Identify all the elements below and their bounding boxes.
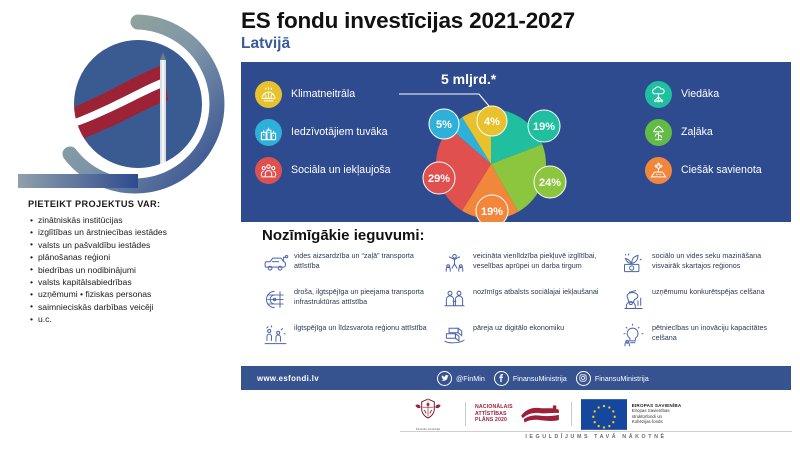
benefit-text: droša, ilgtspējīga un pieejama transport…	[294, 286, 432, 306]
benefit-item: pētniecības un inovāciju kapacitātes cel…	[620, 322, 790, 349]
people-group-icon	[255, 157, 282, 184]
latvia-map-icon	[518, 402, 562, 426]
nap-logo: NACIONĀLAIS ATTĪSTĪBAS PLĀNS 2020	[475, 402, 562, 426]
latvia-flag-circle-icon	[18, 8, 238, 196]
region-development-icon	[262, 322, 289, 349]
pie-label-24: 24%	[534, 166, 566, 198]
priority-label: Zaļāka	[681, 126, 713, 138]
svg-text:24%: 24%	[539, 177, 561, 189]
list-item: saimnieciskās darbības veicēji	[30, 301, 236, 313]
benefit-text: sociālo un vides seku mazināšana visvair…	[652, 250, 790, 270]
list-item: uzņēmumi • fiziskas personas	[30, 288, 236, 300]
pie-label-19b: 19%	[476, 195, 508, 222]
social-link-instagram[interactable]: FinansuMinistrija	[576, 371, 649, 386]
priority-item-ciesak-savienota: Ciešāk savienota	[645, 156, 762, 184]
page-title: ES fondu investīcijas 2021-2027	[241, 8, 575, 34]
social-links: @FinMin FinansuMinistrija	[437, 371, 649, 386]
social-link-twitter[interactable]: @FinMin	[437, 371, 485, 386]
pie-label-4: 4%	[477, 106, 507, 136]
header: ES fondu investīcijas 2021-2027 Latvijā	[241, 8, 575, 53]
benefits-column-2: veicināta vienlīdzība piekļuvē izglītība…	[441, 250, 611, 358]
globe-grid-icon	[255, 81, 282, 108]
divider	[571, 402, 572, 426]
benefit-item: uzņēmumu konkurētspējas celšana	[620, 286, 790, 313]
svg-text:4%: 4%	[484, 116, 500, 128]
nap-line-3: PLĀNS 2020	[475, 417, 513, 424]
page-subtitle: Latvijā	[241, 34, 575, 53]
social-handle: @FinMin	[456, 374, 485, 383]
pie-label-19a: 19%	[528, 110, 560, 142]
electric-car-icon	[262, 250, 289, 277]
city-buildings-icon	[255, 119, 282, 146]
benefit-text: veicināta vienlīdzība piekļuvē izglītība…	[473, 250, 611, 270]
investment-pie-chart: 19% 24% 19% 29% 5%	[391, 72, 641, 222]
benefit-text: vides aizsardzība un “zaļā” transporta a…	[294, 250, 432, 270]
priority-list-left: Klimatneitrāla Iedzīvotājiem tuvāka	[255, 80, 391, 194]
priority-label: Klimatneitrāla	[291, 88, 355, 100]
priority-label: Ciešāk savienota	[681, 164, 762, 176]
priority-label: Sociāla un iekļaujoša	[291, 164, 391, 176]
eu-sub-3: Kohēzijas fonds	[632, 419, 682, 425]
priority-item-iedzivotajiem-tuvaka: Iedzīvotājiem tuvāka	[255, 118, 391, 146]
priority-label: Iedzīvotājiem tuvāka	[291, 126, 388, 138]
apply-section-title: PIETEIKT PROJEKTUS VAR:	[28, 199, 160, 209]
list-item: valsts kapitālsabiedrības	[30, 276, 236, 288]
priorities-panel: Klimatneitrāla Iedzīvotājiem tuvāka	[241, 62, 791, 222]
pie-label-29: 29%	[423, 162, 455, 194]
benefit-item: sociālo un vides seku mazināšana visvair…	[620, 250, 790, 277]
social-handle: FinansuMinistrija	[513, 374, 567, 383]
latvia-coat-of-arms-icon	[410, 397, 446, 421]
benefits-column-3: sociālo un vides seku mazināšana visvair…	[620, 250, 790, 358]
transport-infrastructure-icon	[262, 286, 289, 313]
svg-text:29%: 29%	[428, 173, 450, 185]
footer-bar: www.esfondi.lv @FinMin FinansuMinistrija	[241, 366, 791, 390]
money-leaf-icon	[620, 250, 647, 277]
benefits-columns: vides aizsardzība un “zaļā” transporta a…	[262, 250, 792, 358]
business-growth-icon	[620, 286, 647, 313]
priority-item-sociala-un-ieklaujosa: Sociāla un iekļaujoša	[255, 156, 391, 184]
benefits-column-1: vides aizsardzība un “zaļā” transporta a…	[262, 250, 432, 358]
website-link[interactable]: www.esfondi.lv	[257, 374, 319, 383]
list-item: u.c.	[30, 313, 236, 325]
pie-svg: 19% 24% 19% 29% 5%	[391, 72, 641, 222]
pie-label-5: 5%	[429, 109, 459, 139]
benefit-text: uzņēmumu konkurētspējas celšana	[652, 286, 765, 297]
flag-illustration	[18, 8, 238, 196]
benefit-item: droša, ilgtspējīga un pieejama transport…	[262, 286, 432, 313]
bottom-divider	[400, 431, 792, 432]
eu-logo: EIROPAS SAVIENĪBA Eiropas Savienības str…	[581, 399, 682, 430]
logo-strip: Finanšu ministrija NACIONĀLAIS ATTĪSTĪBA…	[400, 398, 795, 430]
research-bulb-icon	[620, 322, 647, 349]
list-item: izglītības un ārstniecības iestādes	[30, 226, 236, 238]
digital-economy-icon	[441, 322, 468, 349]
benefit-item: pāreja uz digitālo ekonomiku	[441, 322, 611, 349]
priority-item-zalaka: Zaļāka	[645, 118, 762, 146]
benefit-item: vides aizsardzība un “zaļā” transporta a…	[262, 250, 432, 277]
apply-list: zinātniskās institūcijas izglītības un ā…	[30, 214, 236, 326]
social-inclusion-icon	[441, 286, 468, 313]
priority-label: Viedāka	[681, 88, 719, 100]
priority-list-right: Viedāka Zaļāka	[645, 80, 762, 194]
instagram-icon	[576, 371, 591, 386]
priority-item-viedaka: Viedāka	[645, 80, 762, 108]
list-item: valsts un pašvaldību iestādes	[30, 239, 236, 251]
facebook-icon	[494, 371, 509, 386]
nap-line-1: NACIONĀLAIS	[475, 404, 513, 411]
list-item: plānošanas reģioni	[30, 251, 236, 263]
infographic-root: PIETEIKT PROJEKTUS VAR: zinātniskās inst…	[0, 0, 800, 450]
tree-leaf-icon	[645, 119, 672, 146]
list-item: zinātniskās institūcijas	[30, 214, 236, 226]
benefit-text: pētniecības un inovāciju kapacitātes cel…	[652, 322, 790, 342]
svg-text:5%: 5%	[436, 119, 452, 131]
svg-text:19%: 19%	[481, 206, 503, 218]
svg-text:19%: 19%	[533, 121, 555, 133]
eu-flag-icon	[581, 399, 627, 430]
cloud-network-icon	[645, 81, 672, 108]
total-amount-label: 5 mljrd.*	[441, 71, 496, 87]
divider	[465, 402, 466, 426]
benefits-section-title: Nozīmīgākie ieguvumi:	[262, 227, 425, 244]
priority-item-klimatneitrala: Klimatneitrāla	[255, 80, 391, 108]
list-item: biedrības un nodibinājumi	[30, 264, 236, 276]
finmin-logo: Finanšu ministrija	[400, 397, 456, 431]
benefit-item: veicināta vienlīdzība piekļuvē izglītība…	[441, 250, 611, 277]
benefit-text: ilgtspējīga un līdzsvarota reģionu attīs…	[294, 322, 427, 333]
social-link-facebook[interactable]: FinansuMinistrija	[494, 371, 567, 386]
twitter-icon	[437, 371, 452, 386]
social-handle: FinansuMinistrija	[595, 374, 649, 383]
tagline: IEGULDĪJUMS TAVĀ NĀKOTNĒ	[400, 434, 792, 440]
benefit-text: pāreja uz digitālo ekonomiku	[473, 322, 564, 333]
road-connect-icon	[645, 157, 672, 184]
benefit-item: nozīmīgs atbalsts sociālajai iekļaušanai	[441, 286, 611, 313]
benefit-item: ilgtspējīga un līdzsvarota reģionu attīs…	[262, 322, 432, 349]
equality-person-icon	[441, 250, 468, 277]
benefit-text: nozīmīgs atbalsts sociālajai iekļaušanai	[473, 286, 598, 297]
